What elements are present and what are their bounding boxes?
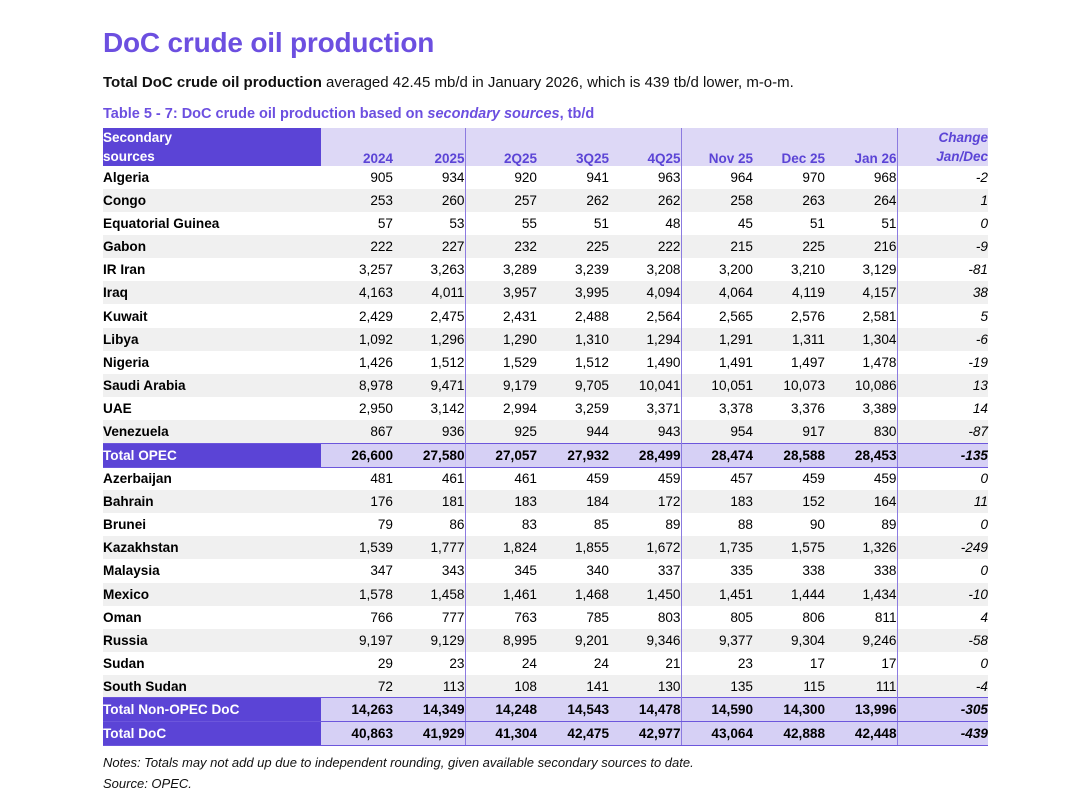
cell-change: -2: [897, 166, 988, 189]
cell-2024: 2,950: [321, 397, 393, 420]
cell-dec-25: 1,444: [753, 583, 825, 606]
cell-jan-26: 111: [825, 675, 897, 698]
table-row: Saudi Arabia8,9789,4719,1799,70510,04110…: [103, 374, 988, 397]
cell-4q25: 9,346: [609, 629, 681, 652]
cell-nov-25: 23: [681, 652, 753, 675]
caption-post: , tb/d: [560, 106, 595, 122]
cell-2025: 1,512: [393, 351, 465, 374]
table-notes: Notes: Totals may not add up due to inde…: [103, 753, 1076, 793]
cell-2q25: 1,824: [465, 536, 537, 559]
cell-2024: 1,578: [321, 583, 393, 606]
cell-change: -135: [897, 443, 988, 467]
cell-2025: 227: [393, 235, 465, 258]
cell-change: 13: [897, 374, 988, 397]
cell-change: 4: [897, 606, 988, 629]
table-header-row: Secondary sources 2024 2025 2Q25 3Q25 4Q…: [103, 128, 988, 166]
cell-change: -249: [897, 536, 988, 559]
cell-2q25: 925: [465, 420, 537, 443]
row-label: Total DoC: [103, 722, 321, 746]
cell-dec-25: 9,304: [753, 629, 825, 652]
cell-4q25: 3,208: [609, 258, 681, 281]
cell-change: -439: [897, 722, 988, 746]
cell-nov-25: 135: [681, 675, 753, 698]
table-row: Nigeria1,4261,5121,5291,5121,4901,4911,4…: [103, 351, 988, 374]
row-label: Venezuela: [103, 420, 321, 443]
row-label: UAE: [103, 397, 321, 420]
cell-4q25: 42,977: [609, 722, 681, 746]
cell-change: 0: [897, 212, 988, 235]
cell-2025: 461: [393, 467, 465, 490]
cell-2025: 3,263: [393, 258, 465, 281]
row-label: Algeria: [103, 166, 321, 189]
cell-change: -87: [897, 420, 988, 443]
table-row: UAE2,9503,1422,9943,2593,3713,3783,3763,…: [103, 397, 988, 420]
cell-2q25: 55: [465, 212, 537, 235]
cell-4q25: 1,450: [609, 583, 681, 606]
cell-2025: 14,349: [393, 698, 465, 722]
cell-dec-25: 42,888: [753, 722, 825, 746]
cell-3q25: 941: [537, 166, 609, 189]
cell-dec-25: 225: [753, 235, 825, 258]
cell-jan-26: 10,086: [825, 374, 897, 397]
cell-2024: 481: [321, 467, 393, 490]
cell-jan-26: 4,157: [825, 281, 897, 304]
caption-italic: secondary sources: [427, 106, 559, 122]
cell-2024: 1,539: [321, 536, 393, 559]
row-label: Total OPEC: [103, 443, 321, 467]
cell-2q25: 14,248: [465, 698, 537, 722]
table-row: Congo2532602572622622582632641: [103, 189, 988, 212]
cell-nov-25: 45: [681, 212, 753, 235]
table-row: Venezuela867936925944943954917830-87: [103, 420, 988, 443]
cell-nov-25: 1,491: [681, 351, 753, 374]
cell-2024: 79: [321, 513, 393, 536]
cell-nov-25: 457: [681, 467, 753, 490]
cell-4q25: 14,478: [609, 698, 681, 722]
cell-change: 0: [897, 559, 988, 582]
row-label: Malaysia: [103, 559, 321, 582]
cell-4q25: 2,564: [609, 304, 681, 327]
cell-nov-25: 4,064: [681, 281, 753, 304]
cell-dec-25: 2,576: [753, 304, 825, 327]
cell-change: 5: [897, 304, 988, 327]
cell-2025: 2,475: [393, 304, 465, 327]
cell-nov-25: 215: [681, 235, 753, 258]
cell-2025: 1,458: [393, 583, 465, 606]
cell-dec-25: 90: [753, 513, 825, 536]
cell-2025: 53: [393, 212, 465, 235]
cell-2024: 9,197: [321, 629, 393, 652]
cell-dec-25: 4,119: [753, 281, 825, 304]
column-header-2024: 2024: [321, 128, 393, 166]
cell-jan-26: 17: [825, 652, 897, 675]
cell-2025: 1,777: [393, 536, 465, 559]
cell-3q25: 85: [537, 513, 609, 536]
cell-3q25: 51: [537, 212, 609, 235]
cell-2q25: 3,289: [465, 258, 537, 281]
cell-2024: 14,263: [321, 698, 393, 722]
cell-2024: 176: [321, 490, 393, 513]
column-header-nov25: Nov 25: [681, 128, 753, 166]
table-row: Kuwait2,4292,4752,4312,4882,5642,5652,57…: [103, 304, 988, 327]
cell-2025: 343: [393, 559, 465, 582]
table-row: Iraq4,1634,0113,9573,9954,0944,0644,1194…: [103, 281, 988, 304]
row-label: Mexico: [103, 583, 321, 606]
cell-2q25: 920: [465, 166, 537, 189]
cell-2024: 57: [321, 212, 393, 235]
cell-3q25: 459: [537, 467, 609, 490]
cell-2024: 253: [321, 189, 393, 212]
table-total-row: Total DoC40,86341,92941,30442,47542,9774…: [103, 722, 988, 746]
cell-nov-25: 88: [681, 513, 753, 536]
cell-2024: 905: [321, 166, 393, 189]
cell-3q25: 14,543: [537, 698, 609, 722]
table-head: Secondary sources 2024 2025 2Q25 3Q25 4Q…: [103, 128, 988, 166]
cell-2q25: 763: [465, 606, 537, 629]
cell-2024: 26,600: [321, 443, 393, 467]
cell-nov-25: 3,200: [681, 258, 753, 281]
cell-jan-26: 1,326: [825, 536, 897, 559]
cell-2024: 2,429: [321, 304, 393, 327]
page-root: DoC crude oil production Total DoC crude…: [0, 0, 1076, 768]
cell-change: -10: [897, 583, 988, 606]
cell-2025: 1,296: [393, 328, 465, 351]
caption-pre: Table 5 - 7: DoC crude oil production ba…: [103, 106, 427, 122]
production-table-wrapper: Secondary sources 2024 2025 2Q25 3Q25 4Q…: [103, 128, 978, 747]
cell-jan-26: 811: [825, 606, 897, 629]
cell-jan-26: 459: [825, 467, 897, 490]
table-total-row: Total Non-OPEC DoC14,26314,34914,24814,5…: [103, 698, 988, 722]
cell-2025: 3,142: [393, 397, 465, 420]
cell-jan-26: 830: [825, 420, 897, 443]
cell-change: -4: [897, 675, 988, 698]
cell-jan-26: 89: [825, 513, 897, 536]
table-total-row: Total OPEC26,60027,58027,05727,93228,499…: [103, 443, 988, 467]
column-header-dec25: Dec 25: [753, 128, 825, 166]
table-row: Kazakhstan1,5391,7771,8241,8551,6721,735…: [103, 536, 988, 559]
cell-2q25: 83: [465, 513, 537, 536]
cell-2q25: 461: [465, 467, 537, 490]
cell-jan-26: 2,581: [825, 304, 897, 327]
cell-2025: 86: [393, 513, 465, 536]
row-label: Total Non-OPEC DoC: [103, 698, 321, 722]
cell-jan-26: 1,478: [825, 351, 897, 374]
cell-3q25: 3,995: [537, 281, 609, 304]
cell-2q25: 2,994: [465, 397, 537, 420]
cell-2q25: 24: [465, 652, 537, 675]
notes-line: Notes: Totals may not add up due to inde…: [103, 753, 1076, 773]
cell-2024: 8,978: [321, 374, 393, 397]
subtitle-rest: averaged 42.45 mb/d in January 2026, whi…: [322, 74, 794, 91]
table-row: Malaysia3473433453403373353383380: [103, 559, 988, 582]
column-header-change: Change Jan/Dec: [897, 128, 988, 166]
cell-nov-25: 335: [681, 559, 753, 582]
table-row: Azerbaijan4814614614594594574594590: [103, 467, 988, 490]
table-row: Brunei79868385898890890: [103, 513, 988, 536]
table-row: South Sudan72113108141130135115111-4: [103, 675, 988, 698]
table-row: Bahrain17618118318417218315216411: [103, 490, 988, 513]
cell-2024: 40,863: [321, 722, 393, 746]
cell-2025: 23: [393, 652, 465, 675]
cell-nov-25: 1,735: [681, 536, 753, 559]
cell-2025: 27,580: [393, 443, 465, 467]
cell-2025: 181: [393, 490, 465, 513]
column-header-3q25: 3Q25: [537, 128, 609, 166]
cell-dec-25: 17: [753, 652, 825, 675]
secondary-label-line2: sources: [103, 147, 321, 166]
table-row: Oman7667777637858038058068114: [103, 606, 988, 629]
cell-nov-25: 1,451: [681, 583, 753, 606]
column-header-secondary-sources: Secondary sources: [103, 128, 321, 166]
cell-3q25: 262: [537, 189, 609, 212]
cell-dec-25: 917: [753, 420, 825, 443]
cell-4q25: 459: [609, 467, 681, 490]
cell-3q25: 27,932: [537, 443, 609, 467]
cell-jan-26: 1,434: [825, 583, 897, 606]
cell-2025: 9,471: [393, 374, 465, 397]
cell-nov-25: 3,378: [681, 397, 753, 420]
row-label: Oman: [103, 606, 321, 629]
cell-4q25: 172: [609, 490, 681, 513]
table-row: Sudan29232424212317170: [103, 652, 988, 675]
row-label: IR Iran: [103, 258, 321, 281]
cell-2q25: 41,304: [465, 722, 537, 746]
subtitle-bold: Total DoC crude oil production: [103, 74, 322, 91]
cell-4q25: 803: [609, 606, 681, 629]
row-label: Kuwait: [103, 304, 321, 327]
cell-4q25: 89: [609, 513, 681, 536]
cell-2q25: 108: [465, 675, 537, 698]
cell-2025: 777: [393, 606, 465, 629]
cell-dec-25: 3,210: [753, 258, 825, 281]
change-label-line1: Change: [898, 128, 989, 147]
cell-jan-26: 42,448: [825, 722, 897, 746]
subtitle: Total DoC crude oil production averaged …: [103, 73, 1076, 93]
row-label: Sudan: [103, 652, 321, 675]
table-row: IR Iran3,2573,2633,2893,2393,2083,2003,2…: [103, 258, 988, 281]
cell-4q25: 262: [609, 189, 681, 212]
cell-jan-26: 9,246: [825, 629, 897, 652]
cell-3q25: 2,488: [537, 304, 609, 327]
row-label: Nigeria: [103, 351, 321, 374]
cell-3q25: 42,475: [537, 722, 609, 746]
cell-nov-25: 964: [681, 166, 753, 189]
cell-dec-25: 115: [753, 675, 825, 698]
cell-3q25: 1,310: [537, 328, 609, 351]
cell-4q25: 3,371: [609, 397, 681, 420]
cell-4q25: 28,499: [609, 443, 681, 467]
cell-dec-25: 1,497: [753, 351, 825, 374]
table-body: Algeria905934920941963964970968-2Congo25…: [103, 166, 988, 746]
cell-2024: 867: [321, 420, 393, 443]
cell-change: 11: [897, 490, 988, 513]
cell-4q25: 1,294: [609, 328, 681, 351]
cell-dec-25: 10,073: [753, 374, 825, 397]
row-label: Saudi Arabia: [103, 374, 321, 397]
column-header-jan26: Jan 26: [825, 128, 897, 166]
table-row: Russia9,1979,1298,9959,2019,3469,3779,30…: [103, 629, 988, 652]
table-caption: Table 5 - 7: DoC crude oil production ba…: [103, 106, 1076, 123]
cell-change: -9: [897, 235, 988, 258]
row-label: Equatorial Guinea: [103, 212, 321, 235]
cell-2024: 29: [321, 652, 393, 675]
cell-2025: 936: [393, 420, 465, 443]
cell-4q25: 1,672: [609, 536, 681, 559]
cell-change: 1: [897, 189, 988, 212]
cell-2q25: 232: [465, 235, 537, 258]
cell-change: 0: [897, 513, 988, 536]
cell-4q25: 4,094: [609, 281, 681, 304]
row-label: Kazakhstan: [103, 536, 321, 559]
row-label: Azerbaijan: [103, 467, 321, 490]
cell-4q25: 10,041: [609, 374, 681, 397]
cell-4q25: 337: [609, 559, 681, 582]
cell-jan-26: 338: [825, 559, 897, 582]
cell-2q25: 1,461: [465, 583, 537, 606]
cell-jan-26: 3,129: [825, 258, 897, 281]
cell-change: -19: [897, 351, 988, 374]
cell-2025: 113: [393, 675, 465, 698]
source-line: Source: OPEC.: [103, 774, 1076, 794]
column-header-2025: 2025: [393, 128, 465, 166]
secondary-label-line1: Secondary: [103, 128, 321, 147]
cell-2q25: 9,179: [465, 374, 537, 397]
cell-change: -6: [897, 328, 988, 351]
production-table: Secondary sources 2024 2025 2Q25 3Q25 4Q…: [103, 128, 988, 747]
cell-3q25: 9,705: [537, 374, 609, 397]
cell-dec-25: 3,376: [753, 397, 825, 420]
row-label: Russia: [103, 629, 321, 652]
cell-jan-26: 51: [825, 212, 897, 235]
cell-2025: 260: [393, 189, 465, 212]
page-title: DoC crude oil production: [103, 26, 1076, 59]
cell-2025: 9,129: [393, 629, 465, 652]
cell-jan-26: 968: [825, 166, 897, 189]
cell-2024: 1,092: [321, 328, 393, 351]
column-header-4q25: 4Q25: [609, 128, 681, 166]
cell-4q25: 21: [609, 652, 681, 675]
cell-2024: 3,257: [321, 258, 393, 281]
cell-dec-25: 263: [753, 189, 825, 212]
cell-2025: 4,011: [393, 281, 465, 304]
table-row: Gabon222227232225222215225216-9: [103, 235, 988, 258]
cell-4q25: 48: [609, 212, 681, 235]
cell-dec-25: 28,588: [753, 443, 825, 467]
cell-2q25: 2,431: [465, 304, 537, 327]
cell-2024: 347: [321, 559, 393, 582]
cell-2q25: 257: [465, 189, 537, 212]
cell-2q25: 3,957: [465, 281, 537, 304]
cell-3q25: 9,201: [537, 629, 609, 652]
cell-change: 14: [897, 397, 988, 420]
cell-dec-25: 338: [753, 559, 825, 582]
cell-3q25: 1,468: [537, 583, 609, 606]
cell-2q25: 27,057: [465, 443, 537, 467]
row-label: Brunei: [103, 513, 321, 536]
cell-jan-26: 1,304: [825, 328, 897, 351]
cell-jan-26: 28,453: [825, 443, 897, 467]
cell-2025: 41,929: [393, 722, 465, 746]
cell-dec-25: 806: [753, 606, 825, 629]
row-label: Congo: [103, 189, 321, 212]
cell-nov-25: 805: [681, 606, 753, 629]
cell-dec-25: 1,575: [753, 536, 825, 559]
cell-nov-25: 14,590: [681, 698, 753, 722]
cell-3q25: 3,259: [537, 397, 609, 420]
cell-nov-25: 10,051: [681, 374, 753, 397]
cell-4q25: 130: [609, 675, 681, 698]
cell-jan-26: 164: [825, 490, 897, 513]
cell-nov-25: 28,474: [681, 443, 753, 467]
row-label: Libya: [103, 328, 321, 351]
cell-jan-26: 216: [825, 235, 897, 258]
cell-4q25: 222: [609, 235, 681, 258]
cell-2024: 222: [321, 235, 393, 258]
cell-change: -81: [897, 258, 988, 281]
cell-3q25: 24: [537, 652, 609, 675]
cell-dec-25: 970: [753, 166, 825, 189]
cell-3q25: 1,512: [537, 351, 609, 374]
cell-nov-25: 183: [681, 490, 753, 513]
cell-4q25: 963: [609, 166, 681, 189]
cell-2024: 72: [321, 675, 393, 698]
cell-nov-25: 954: [681, 420, 753, 443]
cell-dec-25: 14,300: [753, 698, 825, 722]
cell-2q25: 1,290: [465, 328, 537, 351]
cell-dec-25: 459: [753, 467, 825, 490]
cell-3q25: 225: [537, 235, 609, 258]
cell-nov-25: 1,291: [681, 328, 753, 351]
cell-3q25: 944: [537, 420, 609, 443]
row-label: Gabon: [103, 235, 321, 258]
cell-dec-25: 1,311: [753, 328, 825, 351]
cell-2024: 4,163: [321, 281, 393, 304]
cell-nov-25: 2,565: [681, 304, 753, 327]
cell-dec-25: 152: [753, 490, 825, 513]
cell-jan-26: 264: [825, 189, 897, 212]
cell-2q25: 345: [465, 559, 537, 582]
cell-jan-26: 3,389: [825, 397, 897, 420]
cell-change: 0: [897, 467, 988, 490]
cell-change: 0: [897, 652, 988, 675]
cell-3q25: 340: [537, 559, 609, 582]
row-label: Iraq: [103, 281, 321, 304]
table-row: Equatorial Guinea57535551484551510: [103, 212, 988, 235]
table-row: Mexico1,5781,4581,4611,4681,4501,4511,44…: [103, 583, 988, 606]
table-row: Libya1,0921,2961,2901,3101,2941,2911,311…: [103, 328, 988, 351]
cell-3q25: 1,855: [537, 536, 609, 559]
cell-3q25: 3,239: [537, 258, 609, 281]
cell-2q25: 1,529: [465, 351, 537, 374]
cell-3q25: 141: [537, 675, 609, 698]
cell-nov-25: 258: [681, 189, 753, 212]
cell-jan-26: 13,996: [825, 698, 897, 722]
cell-2024: 766: [321, 606, 393, 629]
column-header-2q25: 2Q25: [465, 128, 537, 166]
cell-2q25: 183: [465, 490, 537, 513]
table-row: Algeria905934920941963964970968-2: [103, 166, 988, 189]
cell-change: -58: [897, 629, 988, 652]
cell-2q25: 8,995: [465, 629, 537, 652]
cell-3q25: 184: [537, 490, 609, 513]
cell-2025: 934: [393, 166, 465, 189]
cell-change: 38: [897, 281, 988, 304]
cell-change: -305: [897, 698, 988, 722]
row-label: Bahrain: [103, 490, 321, 513]
cell-nov-25: 43,064: [681, 722, 753, 746]
cell-4q25: 943: [609, 420, 681, 443]
row-label: South Sudan: [103, 675, 321, 698]
